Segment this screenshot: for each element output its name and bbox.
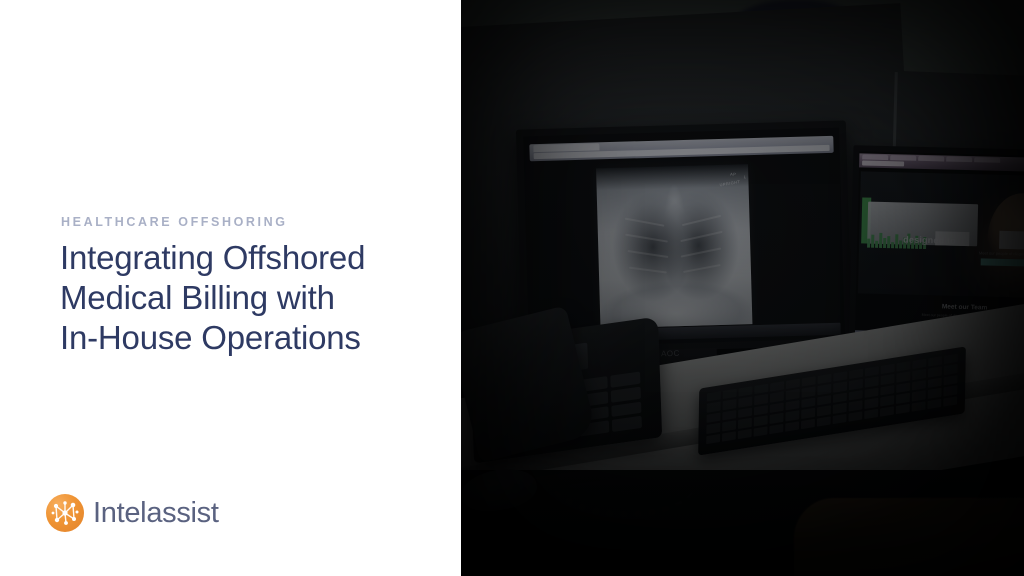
hero-overlay-block-1 <box>935 231 969 246</box>
cardboard-box <box>794 498 1024 576</box>
left-monitor-brand: AOC <box>661 349 680 359</box>
website-hero: designed to Meet our people of diagnosti… <box>858 171 1024 298</box>
browser-url-field <box>862 160 904 166</box>
left-text-panel: HEALTHCARE OFFSHORING Integrating Offsho… <box>0 0 461 576</box>
brand-wordmark: Intelassist <box>93 499 219 528</box>
page-title: Integrating Offshored Medical Billing wi… <box>60 238 420 358</box>
slide-root: HEALTHCARE OFFSHORING Integrating Offsho… <box>0 0 1024 576</box>
brand-logo: Intelassist <box>46 494 219 532</box>
photo-scene: AP UPRIGHT L <box>461 0 1024 576</box>
hero-cta-bar <box>981 258 1024 266</box>
chest-xray-image: AP UPRIGHT L <box>596 164 752 328</box>
molecule-network-icon <box>46 494 84 532</box>
hero-photo: AP UPRIGHT L <box>461 0 1024 576</box>
xray-label-upright: UPRIGHT <box>719 179 740 187</box>
headline-line-3: In-House Operations <box>60 318 420 358</box>
web-browser-chrome <box>859 153 1024 172</box>
eyebrow-label: HEALTHCARE OFFSHORING <box>61 215 288 229</box>
xray-browser-chrome <box>529 136 833 161</box>
xray-label-side: L <box>744 174 747 179</box>
headline-line-1: Integrating Offshored <box>60 238 420 278</box>
xray-label-ap: AP <box>730 172 736 177</box>
headline-line-2: Medical Billing with <box>60 278 420 318</box>
hero-overlay-block-2 <box>999 231 1024 250</box>
